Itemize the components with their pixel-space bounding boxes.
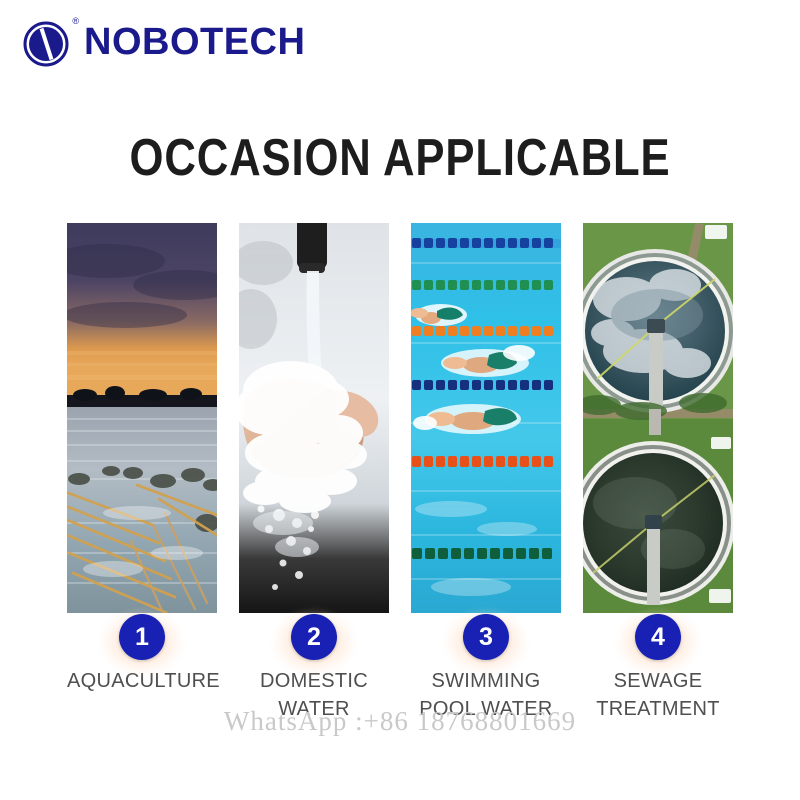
caption-line-2: TREATMENT (583, 696, 733, 724)
panel-item[interactable]: 3 (411, 223, 561, 613)
panel-badge: 3 (444, 595, 528, 679)
page-title: OCCASION APPLICABLE (64, 128, 736, 188)
badge-number: 4 (635, 614, 681, 660)
nobotech-circle-slash-logo-icon: ® (22, 16, 74, 68)
panel-item[interactable]: 2 (239, 223, 389, 613)
panel-badge: 1 (100, 595, 184, 679)
panel-image-domestic-water (239, 223, 389, 613)
panel-image-aquaculture (67, 223, 217, 613)
brand-logo: ® NOBOTECH (22, 16, 305, 68)
panel-row: 1 (67, 223, 733, 613)
brand-name: NOBOTECH (84, 23, 305, 61)
badge-number: 3 (463, 614, 509, 660)
panel-item[interactable]: 1 (67, 223, 217, 613)
panel-badge: 4 (616, 595, 700, 679)
poster-root: ® NOBOTECH OCCASION APPLICABLE (0, 0, 800, 800)
panel-image-swimming-pool (411, 223, 561, 613)
badge-number: 1 (119, 614, 165, 660)
panel-item[interactable]: 4 (583, 223, 733, 613)
panel-image-sewage-treatment (583, 223, 733, 613)
badge-number: 2 (291, 614, 337, 660)
panel-badge: 2 (272, 595, 356, 679)
caption-line-2: POOL WATER (411, 696, 561, 724)
registered-trademark-icon: ® (72, 17, 79, 26)
